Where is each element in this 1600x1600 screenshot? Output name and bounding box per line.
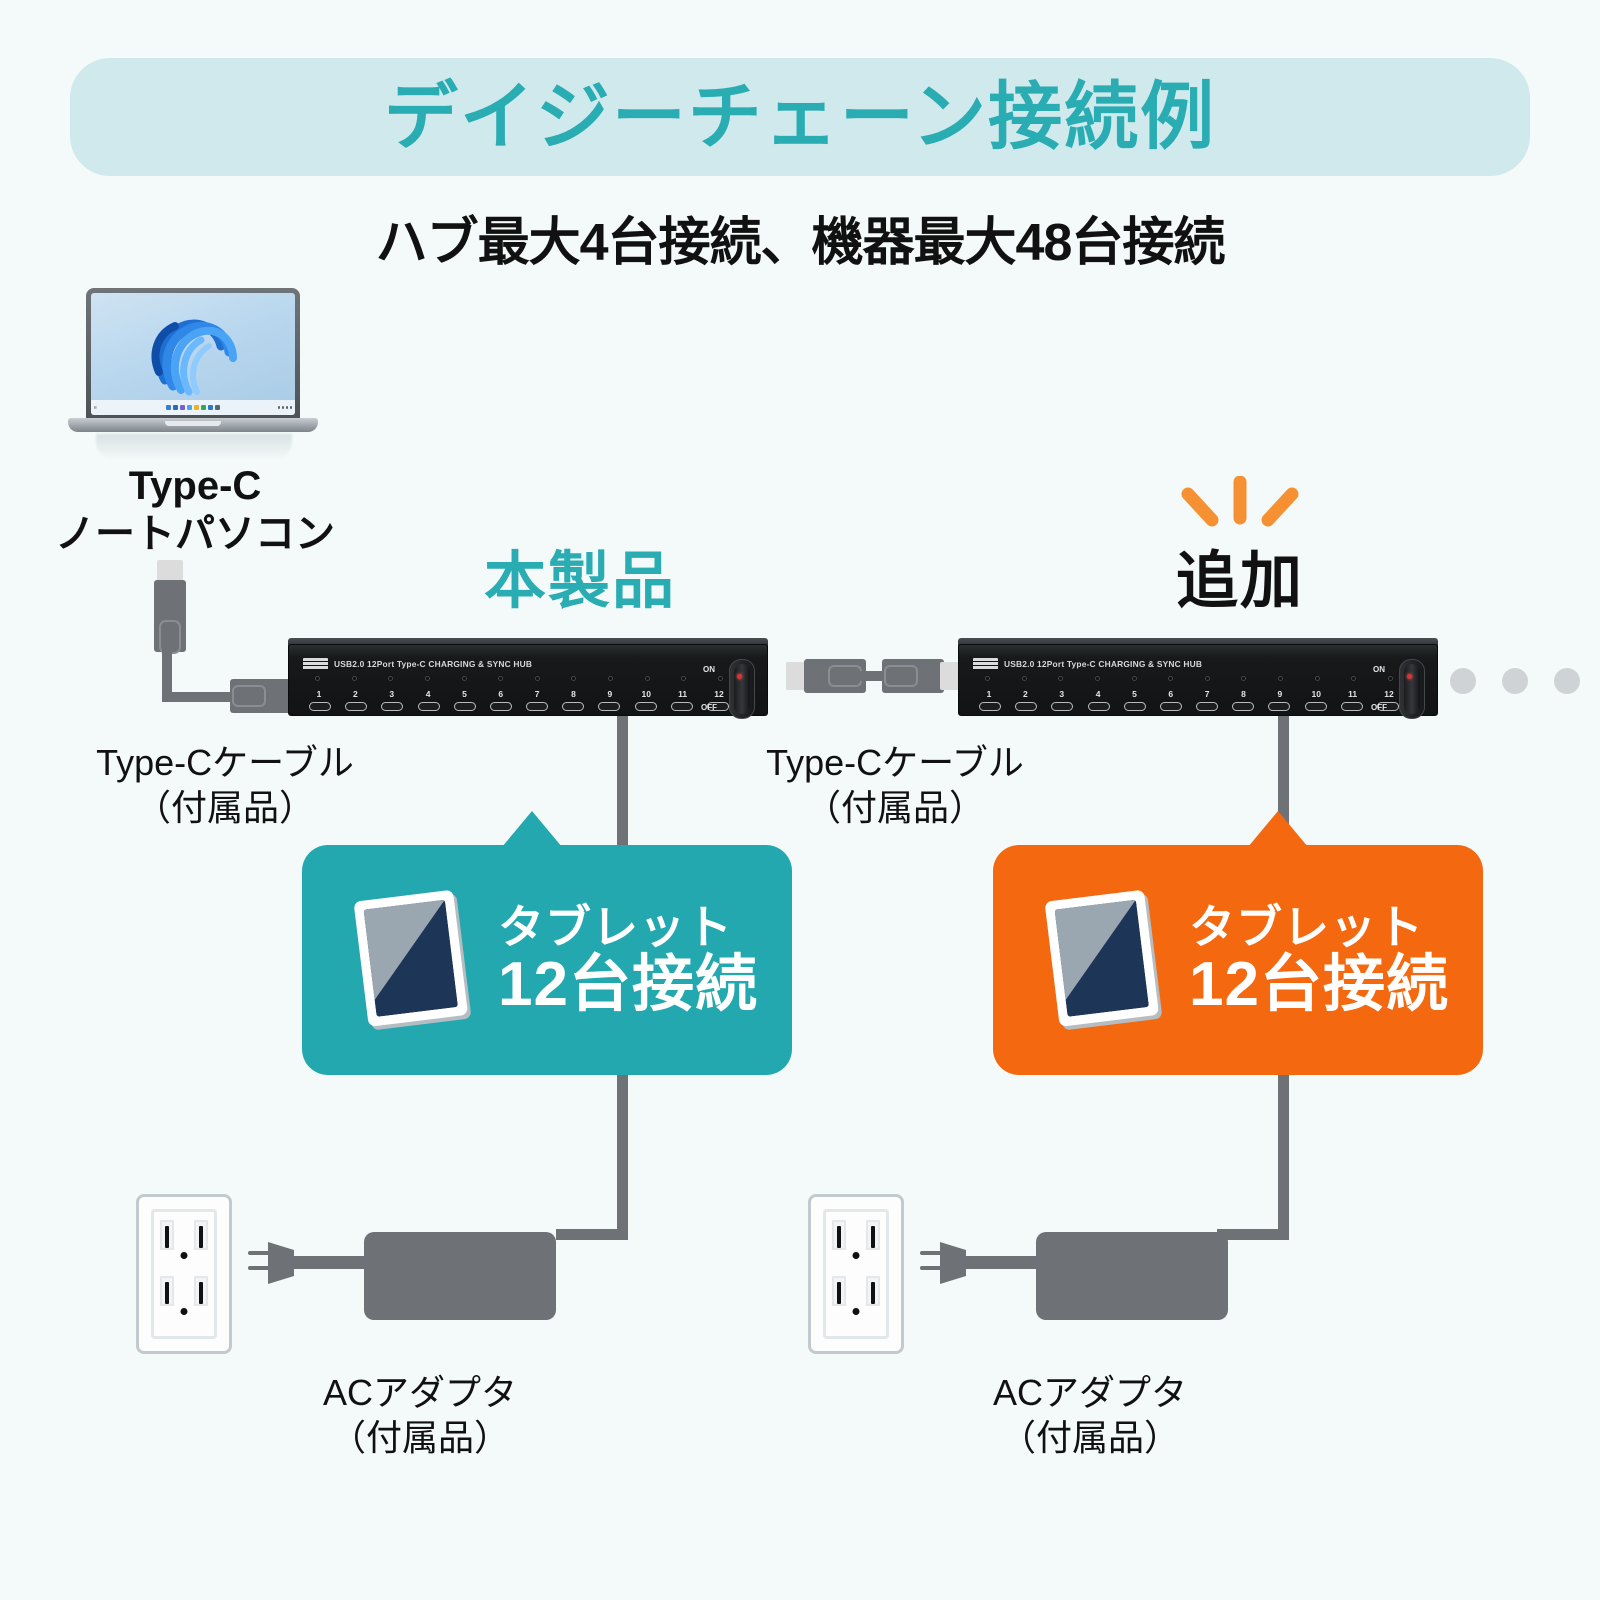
callout-tablets-1: タブレット 12台接続 (302, 845, 792, 1075)
system-tray (278, 406, 293, 409)
callout2-text: タブレット 12台接続 (1189, 903, 1449, 1016)
outlet2-inner (823, 1209, 889, 1339)
hub1-switch-led-icon (737, 674, 742, 679)
app-icon (215, 405, 220, 410)
hub2-port-numbers: 1 2 3 4 5 6 7 8 9 10 11 12 (979, 689, 1399, 699)
continuation-dot (1554, 668, 1580, 694)
hub1-port-numbers: 1 2 3 4 5 6 7 8 9 10 11 12 (309, 689, 729, 699)
continuation-dots (1450, 668, 1580, 694)
outlet1-socket-bottom (160, 1276, 208, 1320)
hub1-port-num: 10 (636, 689, 656, 699)
hub1-switch-rocker[interactable] (734, 664, 750, 714)
cable-1-label: Type-Cケーブル （付属品） (30, 740, 420, 830)
usb-hub-2[interactable]: USB2.0 12Port Type-C CHARGING & SYNC HUB… (958, 636, 1438, 716)
adapter1-input-wire (292, 1256, 368, 1269)
callout-tablets-2: タブレット 12台接続 (993, 845, 1483, 1075)
cable2-grip-b (884, 665, 918, 687)
hub2-ports[interactable] (979, 702, 1399, 711)
callout2-line2: 12台接続 (1189, 952, 1449, 1017)
usb-c-port[interactable] (635, 702, 657, 711)
laptop-lid: e (86, 288, 300, 420)
continuation-dot (1502, 668, 1528, 694)
callout2-line1: タブレット (1189, 903, 1449, 951)
cable-2-label-line2: （付属品） (700, 785, 1090, 830)
hub2-switch-led-icon (1407, 674, 1412, 679)
usb-c-port[interactable] (1232, 702, 1254, 711)
badge-added: 追加 (1110, 530, 1370, 620)
hub1-ports[interactable] (309, 702, 729, 711)
hub1-off-label: OFF (701, 703, 717, 712)
cable-1-label-line1: Type-Cケーブル (30, 740, 420, 785)
hub1-port-num: 4 (418, 689, 438, 699)
hub2-leds (985, 676, 1393, 681)
taskbar: e (91, 400, 295, 415)
laptop-label-line2: ノートパソコン (20, 510, 370, 558)
usb-c-port[interactable] (1305, 702, 1327, 711)
hub2-switch-rocker[interactable] (1404, 664, 1420, 714)
widgets-icon (180, 405, 185, 410)
callout1-line2: 12台接続 (498, 952, 758, 1017)
laptop-label: Type-C ノートパソコン (20, 462, 370, 558)
diagram-canvas: デイジーチェーン接続例 ハブ最大4台接続、機器最大48台接続 e (0, 0, 1600, 1600)
mail-icon (208, 405, 213, 410)
search-icon (173, 405, 178, 410)
hub2-power-switch[interactable]: ON OFF (1395, 659, 1429, 719)
usb-c-port[interactable] (1160, 702, 1182, 711)
usb-c-port[interactable] (1341, 702, 1363, 711)
cable-2-label: Type-Cケーブル （付属品） (700, 740, 1090, 830)
continuation-dot (1450, 668, 1476, 694)
explorer-icon (194, 405, 199, 410)
hub1-port-num: 1 (309, 689, 329, 699)
usb-c-port[interactable] (562, 702, 584, 711)
laptop-label-line1: Type-C (20, 462, 370, 510)
usb-c-port[interactable] (1268, 702, 1290, 711)
ac-adapter-2 (1036, 1232, 1228, 1320)
hub2-port-num: 11 (1343, 689, 1363, 699)
adapter-2-label-line2: （付属品） (890, 1415, 1290, 1460)
cable1-wire-h (162, 692, 236, 702)
laptop-screen: e (91, 293, 295, 415)
hub2-port-num: 1 (979, 689, 999, 699)
adapter-2-label: ACアダプタ （付属品） (890, 1370, 1290, 1460)
hub2-port-num: 3 (1052, 689, 1072, 699)
hub2-port-num: 4 (1088, 689, 1108, 699)
callout1-line1: タブレット (498, 903, 758, 951)
laptop-notch (165, 421, 221, 426)
callout2-tail (1248, 811, 1308, 847)
hub1-power-switch[interactable]: ON OFF (725, 659, 759, 719)
hub2-body: USB2.0 12Port Type-C CHARGING & SYNC HUB… (958, 644, 1438, 716)
cable2-grip-a (828, 665, 862, 687)
usb-c-port[interactable] (526, 702, 548, 711)
windows-wallpaper (135, 302, 251, 402)
type-c-cable-2 (786, 655, 956, 697)
hub2-port-num: 8 (1234, 689, 1254, 699)
hub1-port-num: 9 (600, 689, 620, 699)
hub1-port-num: 7 (527, 689, 547, 699)
usb-c-port[interactable] (309, 702, 331, 711)
hub1-port-num: 3 (382, 689, 402, 699)
sanwa-logo-icon (303, 658, 328, 670)
hub2-power-wire-h (1217, 1229, 1289, 1240)
callout1-tail (502, 811, 562, 847)
hub1-body: USB2.0 12Port Type-C CHARGING & SYNC HUB… (288, 644, 768, 716)
usb-c-port[interactable] (1088, 702, 1110, 711)
adapter-1-label: ACアダプタ （付属品） (220, 1370, 620, 1460)
hub2-off-label: OFF (1371, 703, 1387, 712)
burst-icon (1150, 476, 1330, 532)
usb-hub-1[interactable]: USB2.0 12Port Type-C CHARGING & SYNC HUB… (288, 636, 768, 716)
store-icon (201, 405, 206, 410)
hub2-model-text: USB2.0 12Port Type-C CHARGING & SYNC HUB (1004, 659, 1202, 669)
hub2-port-num: 10 (1306, 689, 1326, 699)
adapter-2-label-line1: ACアダプタ (890, 1370, 1290, 1415)
hub2-on-label: ON (1373, 665, 1385, 674)
laptop-device: e (68, 288, 318, 443)
hub1-port-num: 2 (345, 689, 365, 699)
usb-c-port[interactable] (454, 702, 476, 711)
sanwa-logo-icon (973, 658, 998, 670)
hub1-port-num: 5 (454, 689, 474, 699)
hub1-power-wire-h (556, 1229, 628, 1240)
edge-icon: e (94, 405, 97, 411)
wall-outlet-2 (808, 1194, 904, 1354)
cable1-tip-a (157, 560, 183, 582)
subtitle: ハブ最大4台接続、機器最大48台接続 (0, 200, 1600, 275)
ac-adapter-1 (364, 1232, 556, 1320)
tablet-icon (348, 885, 478, 1035)
hub2-port-num: 6 (1161, 689, 1181, 699)
badge-product: 本製品 (430, 530, 730, 620)
adapter-1-label-line2: （付属品） (220, 1415, 620, 1460)
usb-c-port[interactable] (1015, 702, 1037, 711)
usb-c-port[interactable] (598, 702, 620, 711)
hub1-port-num: 11 (673, 689, 693, 699)
hub2-branding: USB2.0 12Port Type-C CHARGING & SYNC HUB (973, 658, 1202, 670)
callout1-text: タブレット 12台接続 (498, 903, 758, 1016)
wall-outlet-1 (136, 1194, 232, 1354)
outlet2-socket-top (832, 1220, 880, 1264)
hub2-port-num: 7 (1197, 689, 1217, 699)
usb-c-port[interactable] (418, 702, 440, 711)
cable-2-label-line1: Type-Cケーブル (700, 740, 1090, 785)
header-banner: デイジーチェーン接続例 (70, 58, 1530, 176)
hub1-on-label: ON (703, 665, 715, 674)
laptop-reflection (96, 434, 292, 460)
hub2-port-num: 5 (1124, 689, 1144, 699)
outlet2-socket-bottom (832, 1276, 880, 1320)
outlet1-socket-top (160, 1220, 208, 1264)
cable1-grip-b (232, 685, 266, 707)
usb-c-port[interactable] (1051, 702, 1073, 711)
hub1-leds (315, 676, 723, 681)
usb-c-port[interactable] (1196, 702, 1218, 711)
usb-c-port[interactable] (671, 702, 693, 711)
start-icon (166, 405, 171, 410)
hub1-port-num: 6 (491, 689, 511, 699)
adapter2-input-wire (964, 1256, 1040, 1269)
chat-icon (187, 405, 192, 410)
usb-c-port[interactable] (979, 702, 1001, 711)
hub1-model-text: USB2.0 12Port Type-C CHARGING & SYNC HUB (334, 659, 532, 669)
page-title: デイジーチェーン接続例 (384, 80, 1216, 154)
tablet-icon (1039, 885, 1169, 1035)
hub1-branding: USB2.0 12Port Type-C CHARGING & SYNC HUB (303, 658, 532, 670)
adapter-1-label-line1: ACアダプタ (220, 1370, 620, 1415)
usb-c-port[interactable] (345, 702, 367, 711)
hub1-port-num: 8 (564, 689, 584, 699)
usb-c-port[interactable] (381, 702, 403, 711)
hub2-port-num: 2 (1015, 689, 1035, 699)
usb-c-port[interactable] (490, 702, 512, 711)
usb-c-port[interactable] (1124, 702, 1146, 711)
outlet1-inner (151, 1209, 217, 1339)
hub2-port-num: 9 (1270, 689, 1290, 699)
cable-1-label-line2: （付属品） (30, 785, 420, 830)
